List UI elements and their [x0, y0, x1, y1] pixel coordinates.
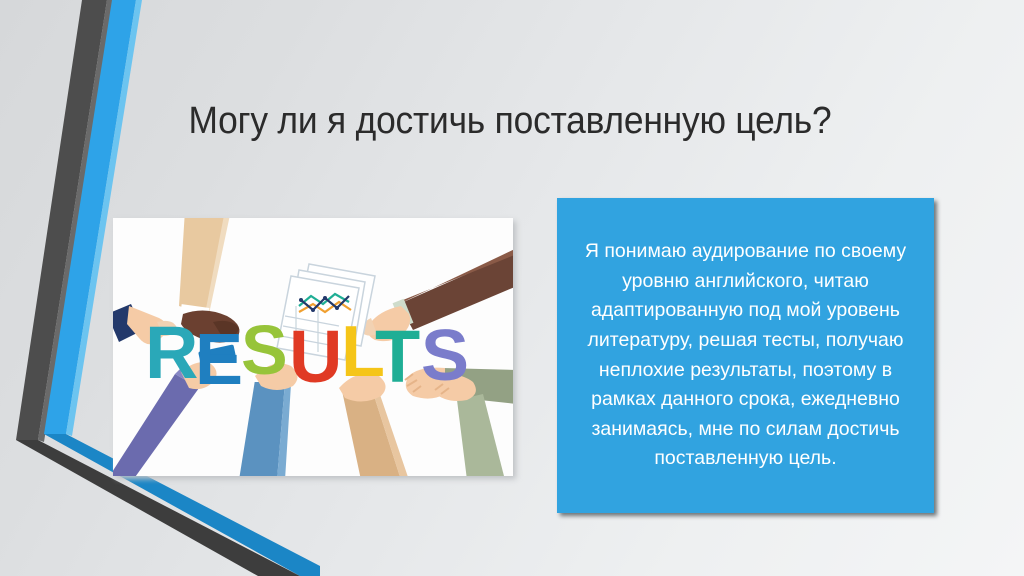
page-title: Могу ли я достичь поставленную цель? — [92, 100, 929, 144]
callout-box: Я понимаю аудирование по своему уровню а… — [557, 198, 934, 513]
svg-text:S: S — [421, 316, 469, 396]
svg-text:S: S — [241, 311, 288, 389]
chevron-dark-band-bevel — [38, 0, 113, 442]
svg-text:U: U — [289, 315, 342, 398]
presentation-slide: Могу ли я достичь поставленную цель? — [0, 0, 1024, 576]
svg-text:E: E — [195, 320, 243, 400]
svg-text:R: R — [145, 311, 198, 394]
chevron-dark-band — [16, 0, 107, 440]
svg-text:T: T — [375, 315, 420, 398]
callout-text: Я понимаю аудирование по своему уровню а… — [579, 237, 912, 474]
results-teamwork-illustration: R E S U L T S — [113, 218, 513, 476]
results-letters: R E S U L T S — [145, 311, 469, 400]
